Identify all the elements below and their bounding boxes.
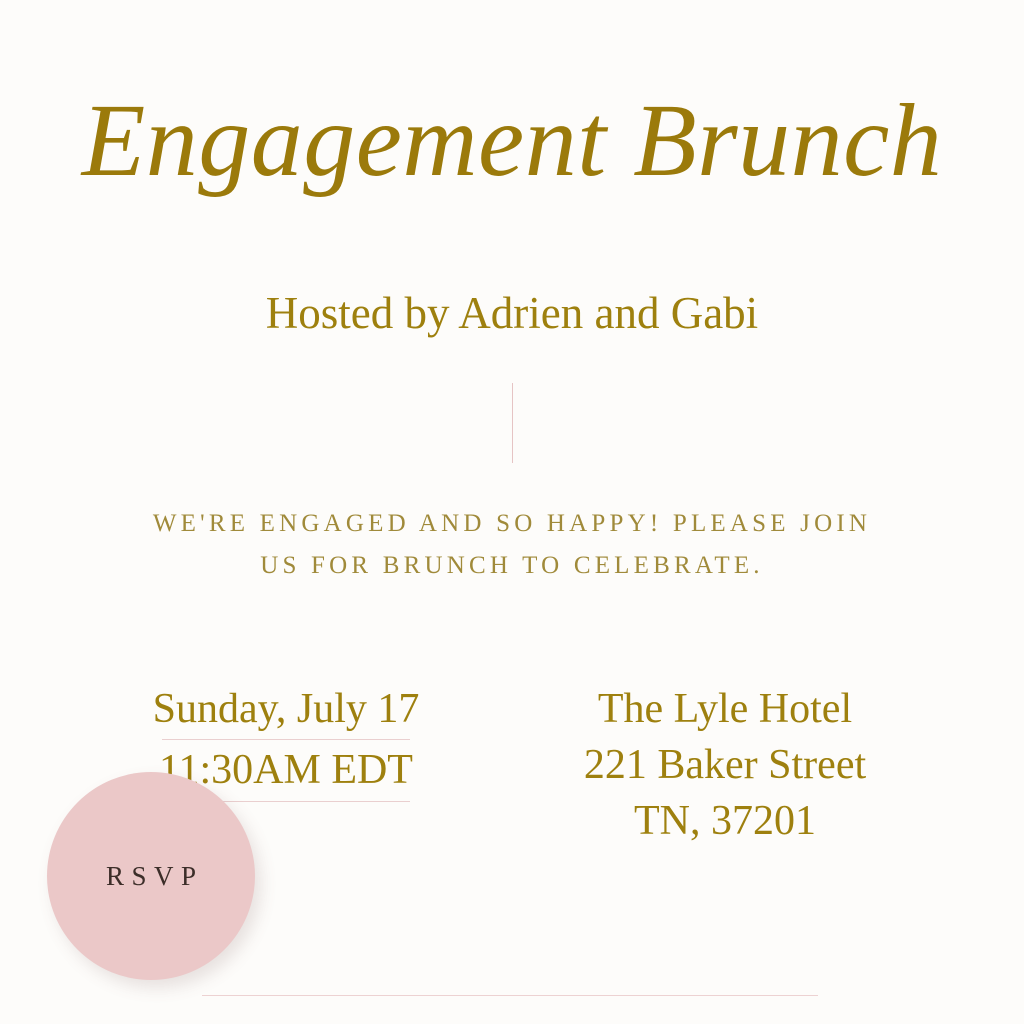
rsvp-button[interactable]: RSVP bbox=[47, 772, 255, 980]
venue-region: TN, 37201 bbox=[512, 794, 938, 850]
date-column: Sunday, July 17 11:30AM EDT bbox=[0, 682, 512, 805]
bottom-rule bbox=[202, 995, 818, 996]
vertical-divider bbox=[512, 383, 513, 463]
venue-column: The Lyle Hotel 221 Baker Street TN, 3720… bbox=[512, 682, 1024, 850]
hosts-subtitle: Hosted by Adrien and Gabi bbox=[0, 288, 1024, 340]
invitation-card: Engagement Brunch Hosted by Adrien and G… bbox=[0, 0, 1024, 1024]
invitation-message: We're engaged and so happy! Please join … bbox=[140, 503, 884, 587]
rsvp-label: RSVP bbox=[98, 861, 203, 892]
venue-name: The Lyle Hotel bbox=[512, 682, 938, 738]
venue-street: 221 Baker Street bbox=[512, 738, 938, 794]
event-date: Sunday, July 17 bbox=[60, 682, 512, 737]
page-title: Engagement Brunch bbox=[0, 86, 1024, 195]
date-rule-top bbox=[162, 739, 410, 740]
